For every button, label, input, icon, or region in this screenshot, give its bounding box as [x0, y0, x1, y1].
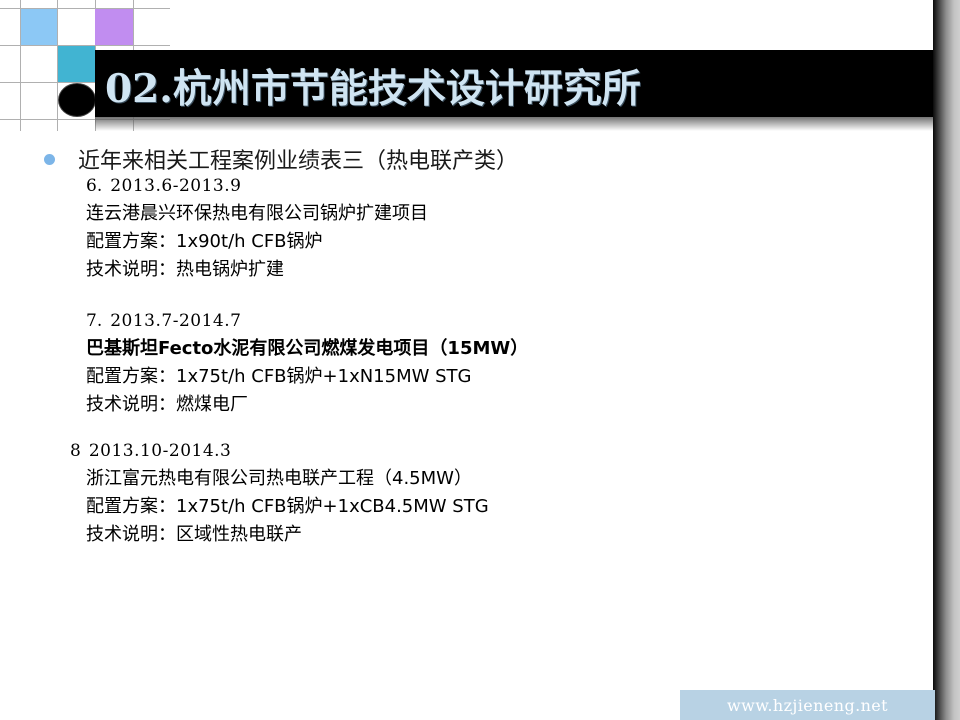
title-bar-shadow [95, 117, 935, 131]
tech-value: 燃煤电厂 [176, 394, 248, 415]
config-value: 1x75t/h CFB锅炉+1xCB4.5MW STG [176, 496, 489, 517]
project-entry-number: 8 [70, 441, 81, 461]
tech-label: 技术说明： [86, 259, 176, 280]
config-label: 配置方案： [86, 231, 176, 252]
bullet-heading-text: 近年来相关工程案例业绩表三（热电联产类） [78, 143, 518, 175]
project-entry-tech: 技术说明：热电锅炉扩建 [86, 256, 428, 284]
project-entry-config: 配置方案：1x75t/h CFB锅炉+1xN15MW STG [86, 363, 528, 391]
config-label: 配置方案： [86, 366, 176, 387]
project-entry-date: 2013.7-2014.7 [110, 311, 241, 331]
project-entry-date: 2013.6-2013.9 [110, 176, 241, 196]
project-entry-config: 配置方案：1x90t/h CFB锅炉 [86, 228, 428, 256]
tech-label: 技术说明： [86, 394, 176, 415]
config-label: 配置方案： [86, 496, 176, 517]
project-entry-header: 7.2013.7-2014.7 [86, 311, 528, 331]
bullet-heading-row: 近年来相关工程案例业绩表三（热电联产类） [44, 143, 518, 175]
decor-square-blue [21, 9, 57, 45]
decor-square-cyan [58, 46, 95, 82]
project-entry-header: 82013.10-2014.3 [70, 441, 489, 461]
right-edge-gradient-strip [933, 0, 960, 720]
project-entry: 6.2013.6-2013.9 连云港晨兴环保热电有限公司锅炉扩建项目 配置方案… [86, 176, 428, 284]
project-entry-body: 连云港晨兴环保热电有限公司锅炉扩建项目 配置方案：1x90t/h CFB锅炉 技… [86, 200, 428, 284]
project-entry-body: 浙江富元热电有限公司热电联产工程（4.5MW） 配置方案：1x75t/h CFB… [70, 465, 489, 549]
decor-ellipse-black [58, 83, 96, 117]
project-entry-date: 2013.10-2014.3 [89, 441, 232, 461]
project-entry-config: 配置方案：1x75t/h CFB锅炉+1xCB4.5MW STG [86, 493, 489, 521]
presentation-slide: 02.杭州市节能技术设计研究所 近年来相关工程案例业绩表三（热电联产类） 6.2… [0, 0, 960, 720]
project-entry-header: 6.2013.6-2013.9 [86, 176, 428, 196]
slide-title: 02.杭州市节能技术设计研究所 [105, 58, 641, 114]
project-entry-tech: 技术说明：区域性热电联产 [86, 521, 489, 549]
project-entry-number: 7. [86, 311, 102, 331]
tech-value: 区域性热电联产 [176, 524, 302, 545]
project-entry-name: 浙江富元热电有限公司热电联产工程（4.5MW） [86, 465, 489, 493]
config-value: 1x75t/h CFB锅炉+1xN15MW STG [176, 366, 472, 387]
footer-url: www.hzjieneng.net [680, 690, 935, 720]
project-entry: 82013.10-2014.3 浙江富元热电有限公司热电联产工程（4.5MW） … [70, 441, 489, 549]
project-entry-name: 连云港晨兴环保热电有限公司锅炉扩建项目 [86, 200, 428, 228]
tech-value: 热电锅炉扩建 [176, 259, 284, 280]
project-entry: 7.2013.7-2014.7 巴基斯坦Fecto水泥有限公司燃煤发电项目（15… [86, 311, 528, 419]
bullet-dot-icon [44, 154, 55, 165]
config-value: 1x90t/h CFB锅炉 [176, 231, 323, 252]
tech-label: 技术说明： [86, 524, 176, 545]
project-entry-name: 巴基斯坦Fecto水泥有限公司燃煤发电项目（15MW） [86, 335, 528, 363]
project-entry-number: 6. [86, 176, 102, 196]
project-entry-tech: 技术说明：燃煤电厂 [86, 391, 528, 419]
project-entry-body: 巴基斯坦Fecto水泥有限公司燃煤发电项目（15MW） 配置方案：1x75t/h… [86, 335, 528, 419]
decor-square-purple [95, 9, 133, 45]
